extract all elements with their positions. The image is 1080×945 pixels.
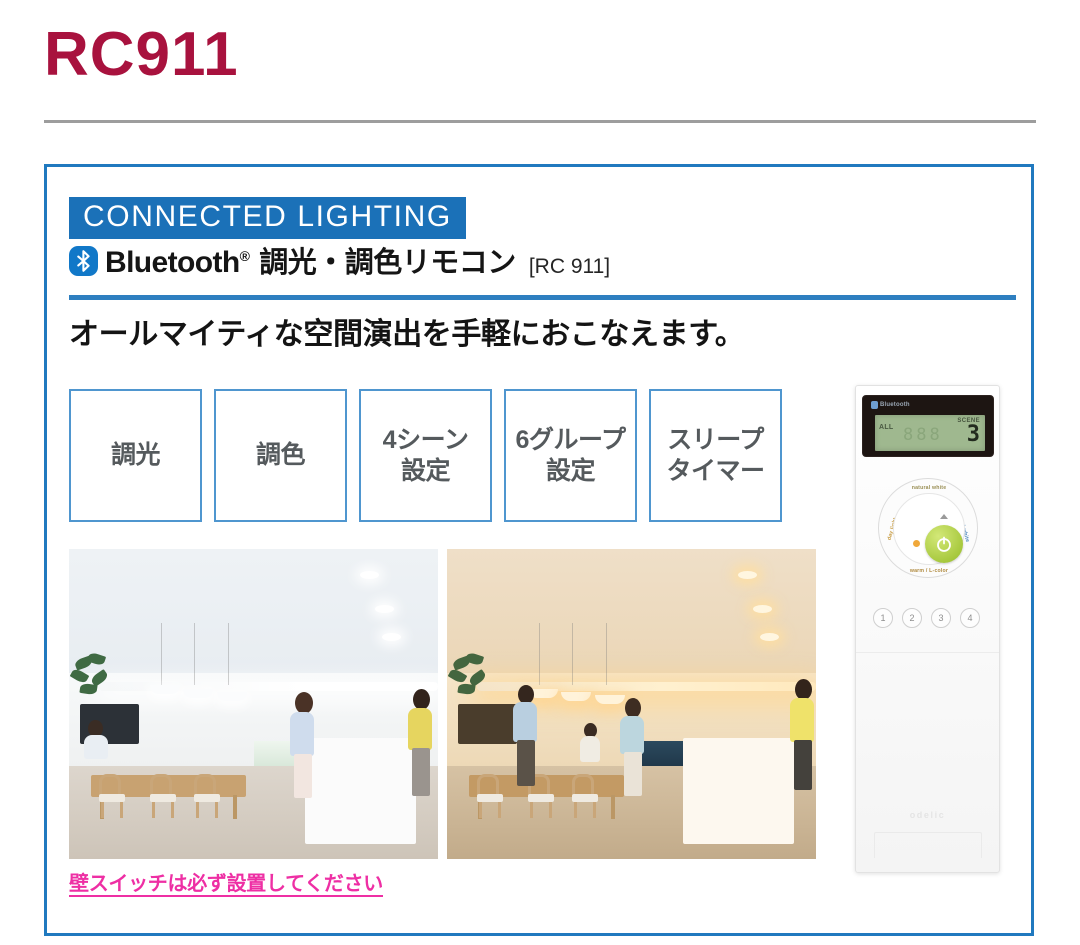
photo-cool-white-interior	[69, 549, 438, 859]
lcd-bezel: Bluetooth ALL 888 SCENE 3	[862, 395, 994, 457]
bluetooth-product-line: Bluetooth® 調光・調色リモコン [RC 911]	[69, 246, 610, 278]
wall-tv	[458, 704, 517, 744]
chair-leg	[171, 802, 174, 818]
chair	[99, 774, 125, 816]
person-legs	[412, 748, 430, 796]
chair-leg	[196, 802, 199, 818]
chair-seat	[572, 794, 598, 802]
person-body	[580, 736, 600, 762]
feature-box-list: 調光 調色 4シーン 設定 6グループ 設定 スリープ タイマー	[69, 389, 782, 522]
chair-seat	[99, 794, 125, 802]
chair-leg	[574, 802, 577, 818]
page-title: RC911	[44, 22, 239, 87]
feature-box-color-tuning: 調色	[214, 389, 347, 522]
dial-label-warm-white: warm / L-color	[910, 568, 948, 574]
pendant-rod	[572, 623, 573, 685]
person-legs	[794, 740, 812, 790]
tagline: オールマイティな空間演出を手軽におこなえます。	[69, 315, 744, 354]
person-body	[790, 698, 814, 742]
chair-back	[150, 774, 172, 796]
chair-seat	[528, 794, 554, 802]
chair-leg	[152, 802, 155, 818]
dial-inner-ring[interactable]	[893, 493, 965, 565]
feature-box-4-scene: 4シーン 設定	[359, 389, 492, 522]
pendant-rod	[194, 623, 195, 685]
scene-button-3[interactable]: 3	[931, 608, 951, 628]
chair-back	[572, 774, 594, 796]
scene-button-row: 1 2 3 4	[873, 608, 980, 628]
leaf-shape	[448, 668, 468, 685]
downlight-icon	[738, 571, 757, 579]
chair-leg	[549, 802, 552, 818]
title-divider	[44, 120, 1036, 123]
leaf-shape	[79, 683, 97, 695]
chair-leg	[530, 802, 533, 818]
kitchen-island	[683, 738, 794, 843]
downlight-icon	[375, 605, 394, 613]
ceiling-surface	[447, 549, 816, 692]
pendant-lamp-icon	[183, 689, 213, 698]
remote-battery-cover	[874, 832, 982, 858]
person-body	[84, 735, 108, 759]
power-icon	[925, 525, 963, 563]
lcd-screen: ALL 888 SCENE 3	[875, 415, 985, 451]
pendant-lamp-icon	[217, 692, 247, 701]
photo-gallery	[69, 549, 816, 859]
feature-box-6-group: 6グループ 設定	[504, 389, 637, 522]
pendant-lamp-icon	[595, 695, 625, 704]
person-legs	[294, 754, 312, 798]
chair-back	[99, 774, 121, 796]
chair-leg	[215, 802, 218, 818]
page-root: RC911 CONNECTED LIGHTING Bluetooth® 調光・調…	[0, 0, 1080, 945]
table-leg	[611, 795, 615, 819]
kitchen-island	[305, 738, 416, 843]
remote-control-device: Bluetooth ALL 888 SCENE 3 natural white …	[855, 385, 1000, 873]
model-number: [RC 911]	[529, 256, 610, 277]
downlight-icon	[382, 633, 401, 641]
registered-mark: ®	[240, 248, 250, 264]
chair-leg	[101, 802, 104, 818]
control-dial[interactable]: natural white cool white warm / L-color …	[878, 478, 978, 578]
wall-switch-warning: 壁スイッチは必ず設置してください	[69, 867, 383, 896]
leaf-shape	[457, 683, 475, 695]
person-legs	[624, 752, 642, 796]
chair-seat	[150, 794, 176, 802]
lcd-all-indicator: ALL	[879, 424, 894, 431]
bluetooth-word-text: Bluetooth	[105, 246, 240, 279]
product-card: CONNECTED LIGHTING Bluetooth® 調光・調色リモコン …	[44, 164, 1034, 936]
feature-box-sleep-timer: スリープ タイマー	[649, 389, 782, 522]
connected-lighting-banner: CONNECTED LIGHTING	[69, 197, 466, 239]
chair-leg	[498, 802, 501, 818]
bluetooth-icon-small	[871, 401, 878, 409]
bluetooth-wordmark: Bluetooth®	[105, 248, 249, 278]
dial-label-natural-white: natural white	[912, 485, 947, 491]
wall-switch-warning-text: 壁スイッチは必ず設置してください	[69, 873, 383, 897]
scene-button-1[interactable]: 1	[873, 608, 893, 628]
scene-button-2[interactable]: 2	[902, 608, 922, 628]
lcd-scene-value: 3	[967, 424, 980, 446]
pendant-rod	[606, 623, 607, 685]
chair-seat	[477, 794, 503, 802]
ceiling-surface	[69, 549, 438, 692]
leaf-shape	[70, 668, 90, 685]
chair	[572, 774, 598, 816]
photo-warm-white-interior	[447, 549, 816, 859]
lcd-segment-digits: 888	[903, 427, 943, 444]
person-body	[513, 702, 537, 742]
person-legs	[517, 740, 535, 786]
chair-leg	[593, 802, 596, 818]
person-body	[290, 712, 314, 756]
person-head	[295, 692, 313, 714]
chair	[194, 774, 220, 816]
chair-back	[194, 774, 216, 796]
chair-leg	[479, 802, 482, 818]
table-leg	[233, 795, 237, 819]
chair-leg	[120, 802, 123, 818]
chair	[477, 774, 503, 816]
brightness-up-icon[interactable]	[940, 514, 948, 519]
chair	[150, 774, 176, 816]
pendant-rod	[539, 623, 540, 685]
person-head	[413, 689, 430, 710]
remote-divider	[856, 652, 999, 653]
chair-back	[477, 774, 499, 796]
downlight-icon	[760, 633, 779, 641]
bluetooth-icon	[69, 246, 98, 276]
power-button[interactable]	[925, 525, 963, 563]
person-body	[408, 708, 432, 750]
downlight-icon	[753, 605, 772, 613]
downlight-icon	[360, 571, 379, 579]
pendant-lamp-icon	[561, 692, 591, 701]
warm-tone-icon[interactable]	[913, 540, 920, 547]
lcd-brand-text: Bluetooth	[880, 402, 910, 408]
remote-brand-logo: odelic	[856, 810, 999, 820]
person-body	[620, 716, 644, 754]
lcd-bluetooth-brand: Bluetooth	[871, 401, 910, 409]
scene-button-4[interactable]: 4	[960, 608, 980, 628]
chair-seat	[194, 794, 220, 802]
pendant-rod	[228, 623, 229, 685]
feature-box-dimming: 調光	[69, 389, 202, 522]
pendant-rod	[161, 623, 162, 685]
person-head	[88, 720, 103, 737]
product-name-jp: 調光・調色リモコン	[259, 249, 516, 278]
header-divider	[69, 295, 1016, 300]
